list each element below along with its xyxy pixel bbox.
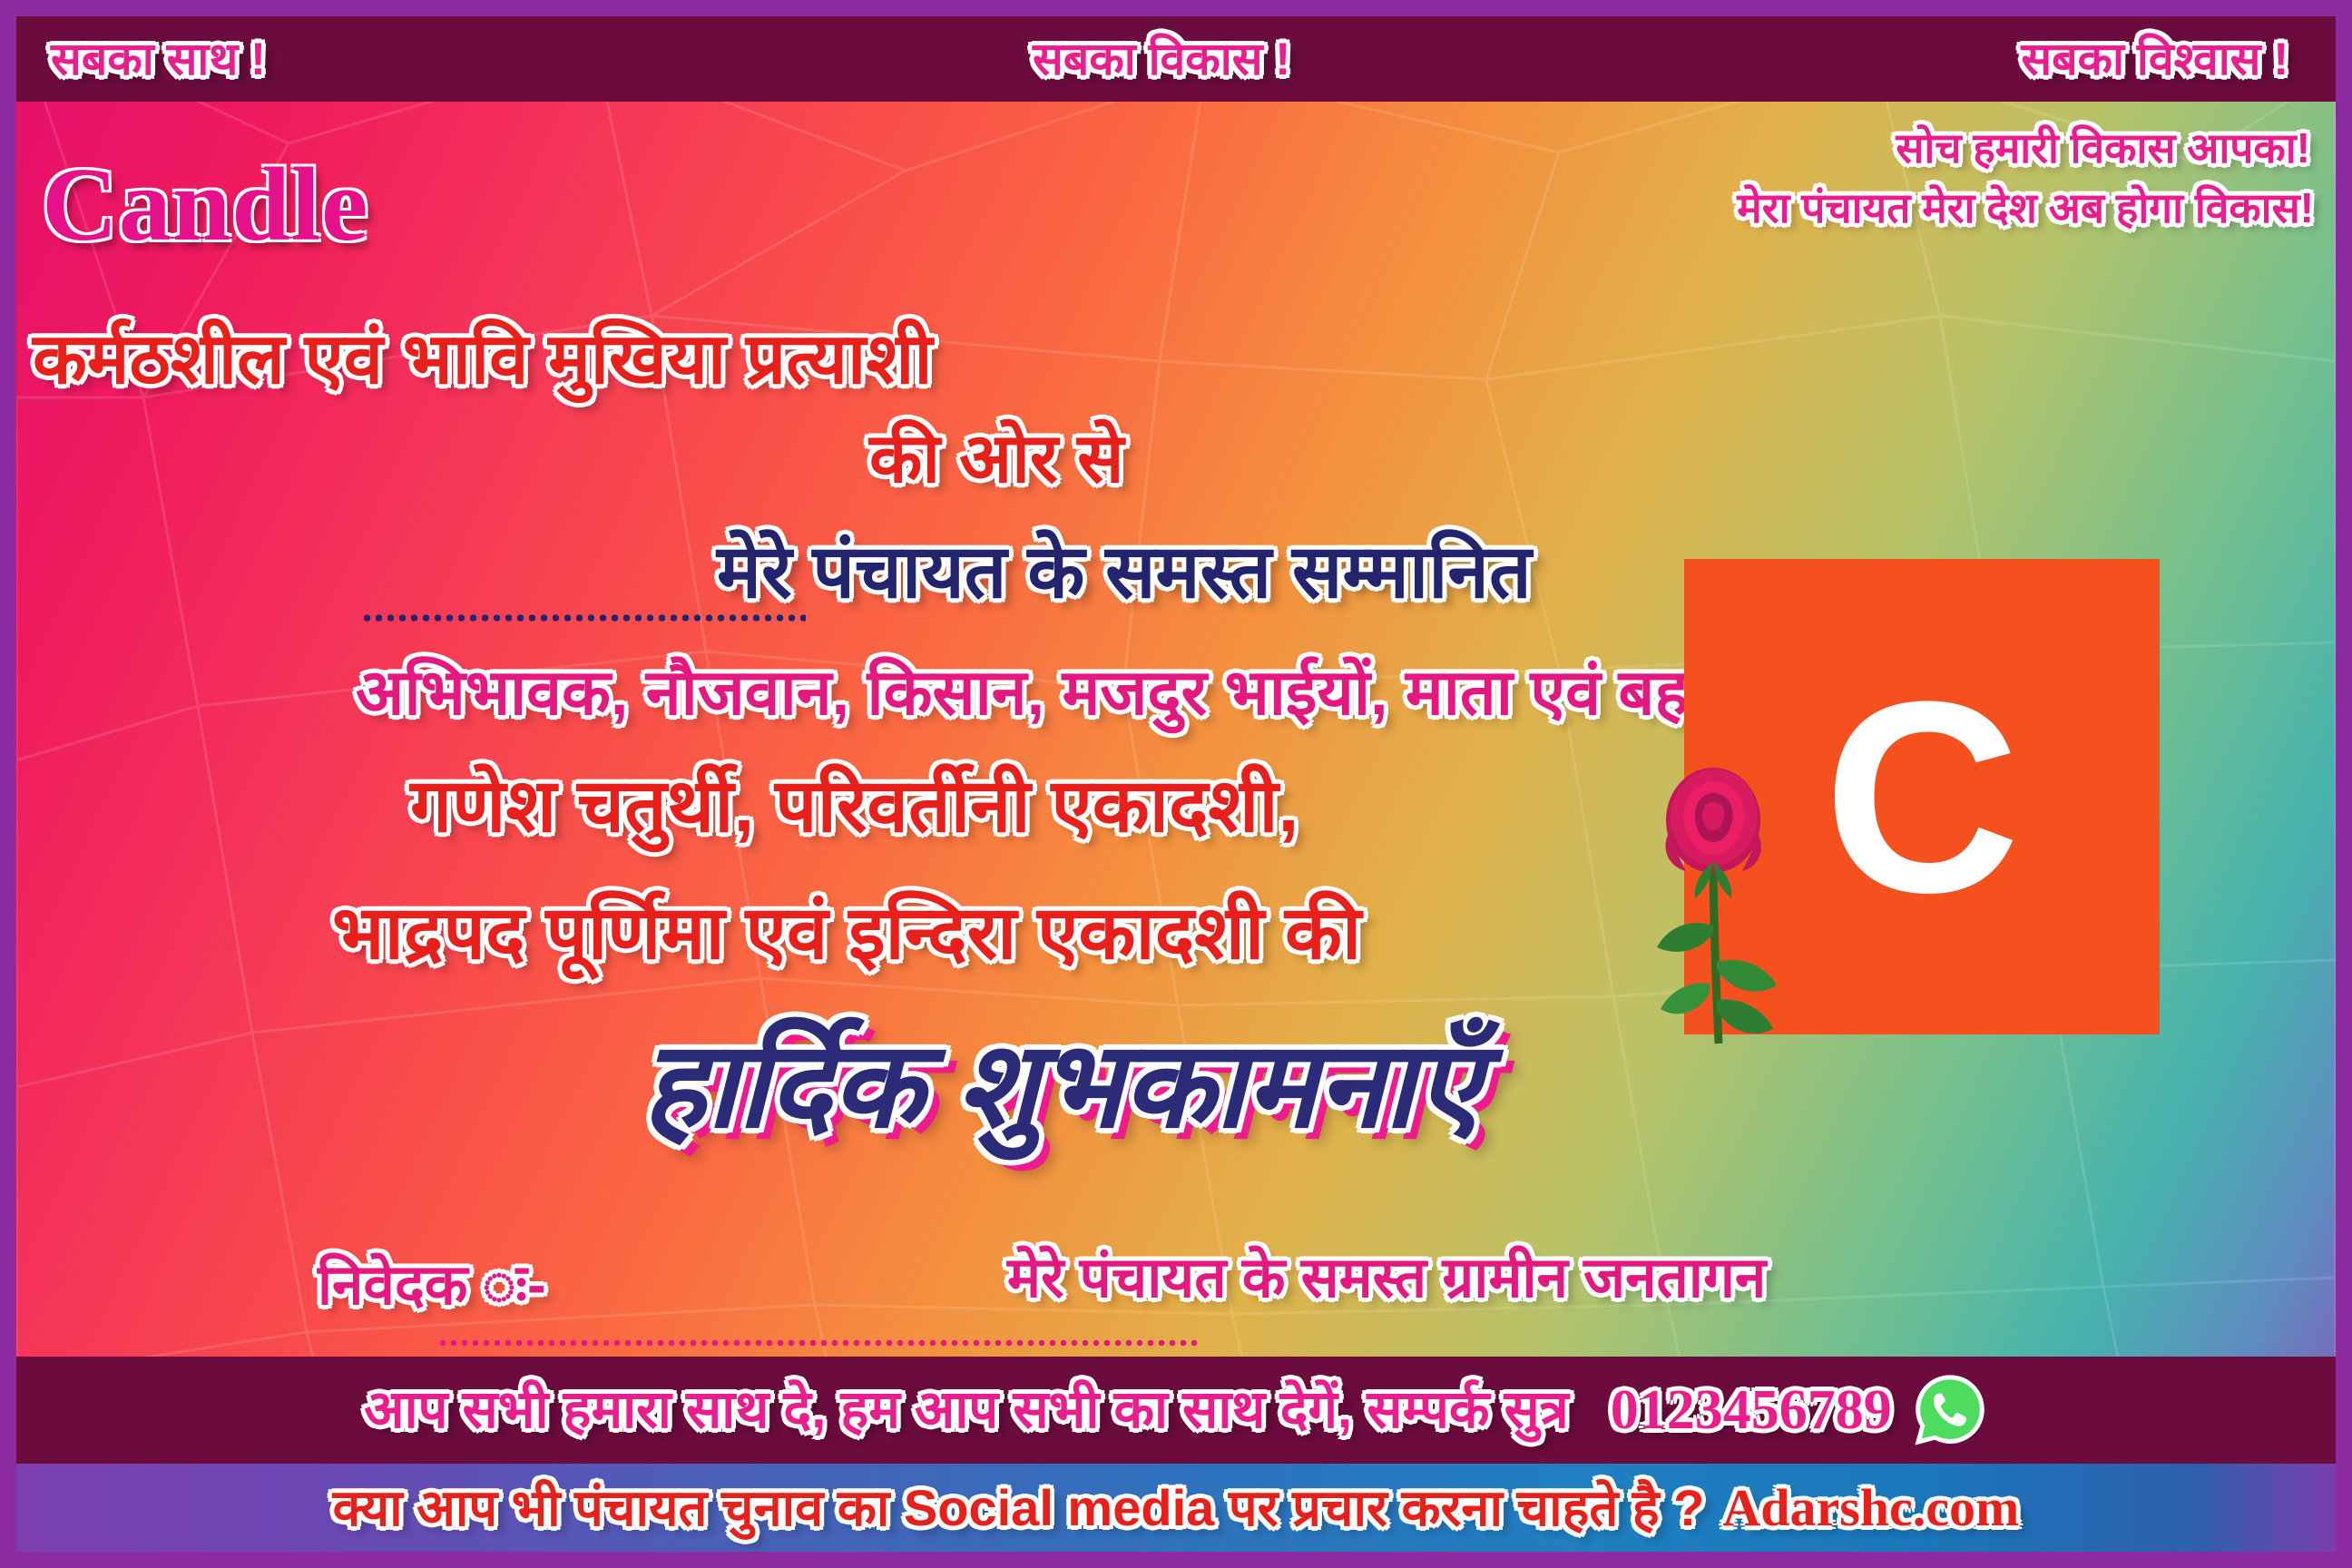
candidate-role-line: कर्मठशील एवं भावि मुखिया प्रत्याशी [33,323,933,394]
brand-logo-candle: Candle [42,145,369,266]
signature-label: निवेदक ः- [318,1258,546,1314]
greeting-headline: हार्दिक शुभकामनाएँ [642,1025,1481,1145]
dotted-rule-1 [361,613,806,622]
footer-promo-text: क्या आप भी पंचायत चुनाव का Social media … [333,1483,1705,1534]
rose-flower-icon [1630,753,1802,1053]
footer-phone-number[interactable]: 0123456789 [1611,1382,1892,1438]
election-greeting-poster: सबका साथ ! सबका विकास ! सबका विश्वास ! C… [0,0,2352,1568]
tagline-line-2: मेरा पंचायत मेरा देश अब होगा विकास! [1737,187,2314,229]
festival-line-2: भाद्रपद पूर्णिमा एवं इन्दिरा एकादशी की [332,897,1361,971]
footer-promo-bar: क्या आप भी पंचायत चुनाव का Social media … [16,1464,2336,1552]
addressee-line-1: मेरे पंचायत के समस्त सम्मानित [717,535,1532,610]
slogan-center: सबका विकास ! [1033,36,1290,82]
signature-value: मेरे पंचायत के समस्त ग्रामीन जनतागन [1007,1250,1766,1307]
footer-support-text: आप सभी हमारा साथ दे, हम आप सभी का साथ दे… [364,1384,1569,1436]
top-slogan-bar: सबका साथ ! सबका विकास ! सबका विश्वास ! [16,16,2336,102]
slogan-right: सबका विश्वास ! [2021,36,2288,82]
dotted-rule-2 [437,1339,1200,1347]
footer-contact-bar: आप सभी हमारा साथ दे, हम आप सभी का साथ दे… [16,1357,2336,1464]
slogan-left: सबका साथ ! [51,36,266,82]
addressee-line-2: अभिभावक, नौजवान, किसान, मजदुर भाईयों, मा… [356,661,1740,724]
whatsapp-icon[interactable] [1912,1372,1988,1448]
from-line: की ओर से [869,425,1124,494]
festival-line-1: गणेश चतुर्थी, परिवर्तीनी एकादशी, [410,769,1298,844]
footer-website-link[interactable]: Adarshc.com [1722,1482,2019,1534]
tagline-line-1: सोच हमारी विकास आपका! [1896,127,2310,169]
